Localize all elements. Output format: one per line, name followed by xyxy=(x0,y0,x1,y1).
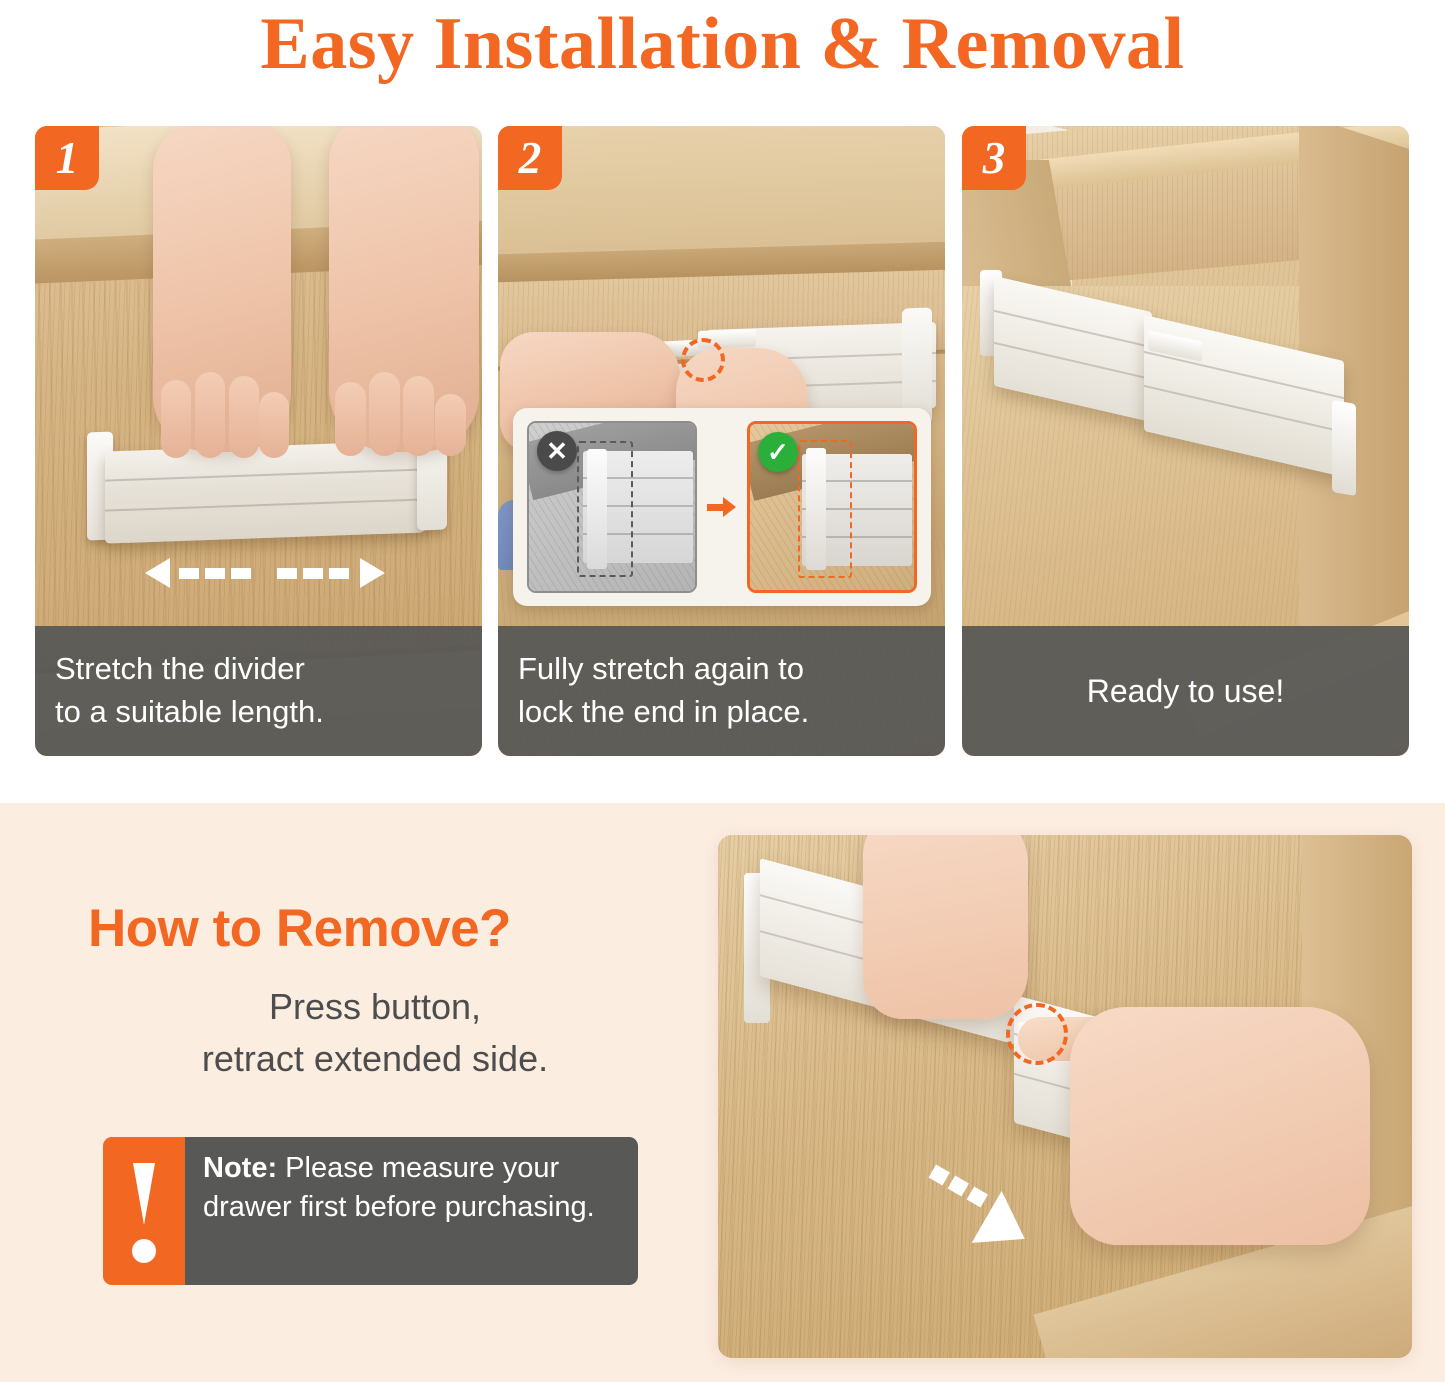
step-caption-1-line1: Stretch the divider xyxy=(49,648,305,691)
how-to-remove-body-line2: retract extended side. xyxy=(140,1033,610,1085)
incorrect-example: ✕ xyxy=(527,421,697,593)
left-hand xyxy=(153,126,291,452)
step-caption-1-line2: to a suitable length. xyxy=(49,691,324,734)
step-number-badge-1: 1 xyxy=(35,126,99,190)
note-text: Note: Please measure your drawer first b… xyxy=(185,1137,638,1285)
step-caption-2-line1: Fully stretch again to xyxy=(512,648,804,691)
highlight-circle-icon xyxy=(1006,1003,1068,1065)
step-caption-2-line2: lock the end in place. xyxy=(512,691,809,734)
step-number-badge-3: 3 xyxy=(962,126,1026,190)
comparison-inset: ✕ ✓ xyxy=(513,408,931,606)
step-caption-3: Ready to use! xyxy=(962,626,1409,756)
divider-end-cap-right xyxy=(1332,400,1356,496)
step-card-1[interactable]: 1 Stretch the divider to a suitable leng… xyxy=(35,126,482,756)
exclamation-icon xyxy=(103,1137,185,1285)
how-to-remove-body: Press button, retract extended side. xyxy=(140,981,610,1085)
transition-arrow-icon xyxy=(705,497,739,517)
installation-steps: 1 Stretch the divider to a suitable leng… xyxy=(35,126,1410,756)
step-caption-3-line1: Ready to use! xyxy=(1087,669,1284,713)
check-icon: ✓ xyxy=(758,432,798,472)
drawer-divider xyxy=(105,440,425,543)
step-number-badge-2: 2 xyxy=(498,126,562,190)
step-caption-1: Stretch the divider to a suitable length… xyxy=(35,626,482,756)
note-callout: Note: Please measure your drawer first b… xyxy=(103,1137,638,1285)
correct-example: ✓ xyxy=(747,421,917,593)
cross-icon: ✕ xyxy=(537,431,577,471)
lower-hand xyxy=(1070,1007,1370,1245)
step-card-2[interactable]: ✕ ✓ 2 Fully stretch again xyxy=(498,126,945,756)
how-to-remove-heading: How to Remove? xyxy=(88,898,511,959)
upper-hand xyxy=(863,835,1028,1019)
divider-end-cap-right xyxy=(902,307,932,424)
how-to-remove-body-line1: Press button, xyxy=(140,981,610,1033)
step-caption-2: Fully stretch again to lock the end in p… xyxy=(498,626,945,756)
note-label: Note: xyxy=(203,1152,277,1184)
right-hand xyxy=(329,126,479,452)
stretch-arrow-icon xyxy=(145,556,385,590)
how-to-remove-section: How to Remove? Press button, retract ext… xyxy=(0,803,1445,1382)
highlight-circle-icon xyxy=(681,338,725,382)
page-title: Easy Installation & Removal xyxy=(0,0,1445,90)
step-card-3[interactable]: 3 Ready to use! xyxy=(962,126,1409,756)
how-to-remove-photo xyxy=(718,835,1412,1358)
